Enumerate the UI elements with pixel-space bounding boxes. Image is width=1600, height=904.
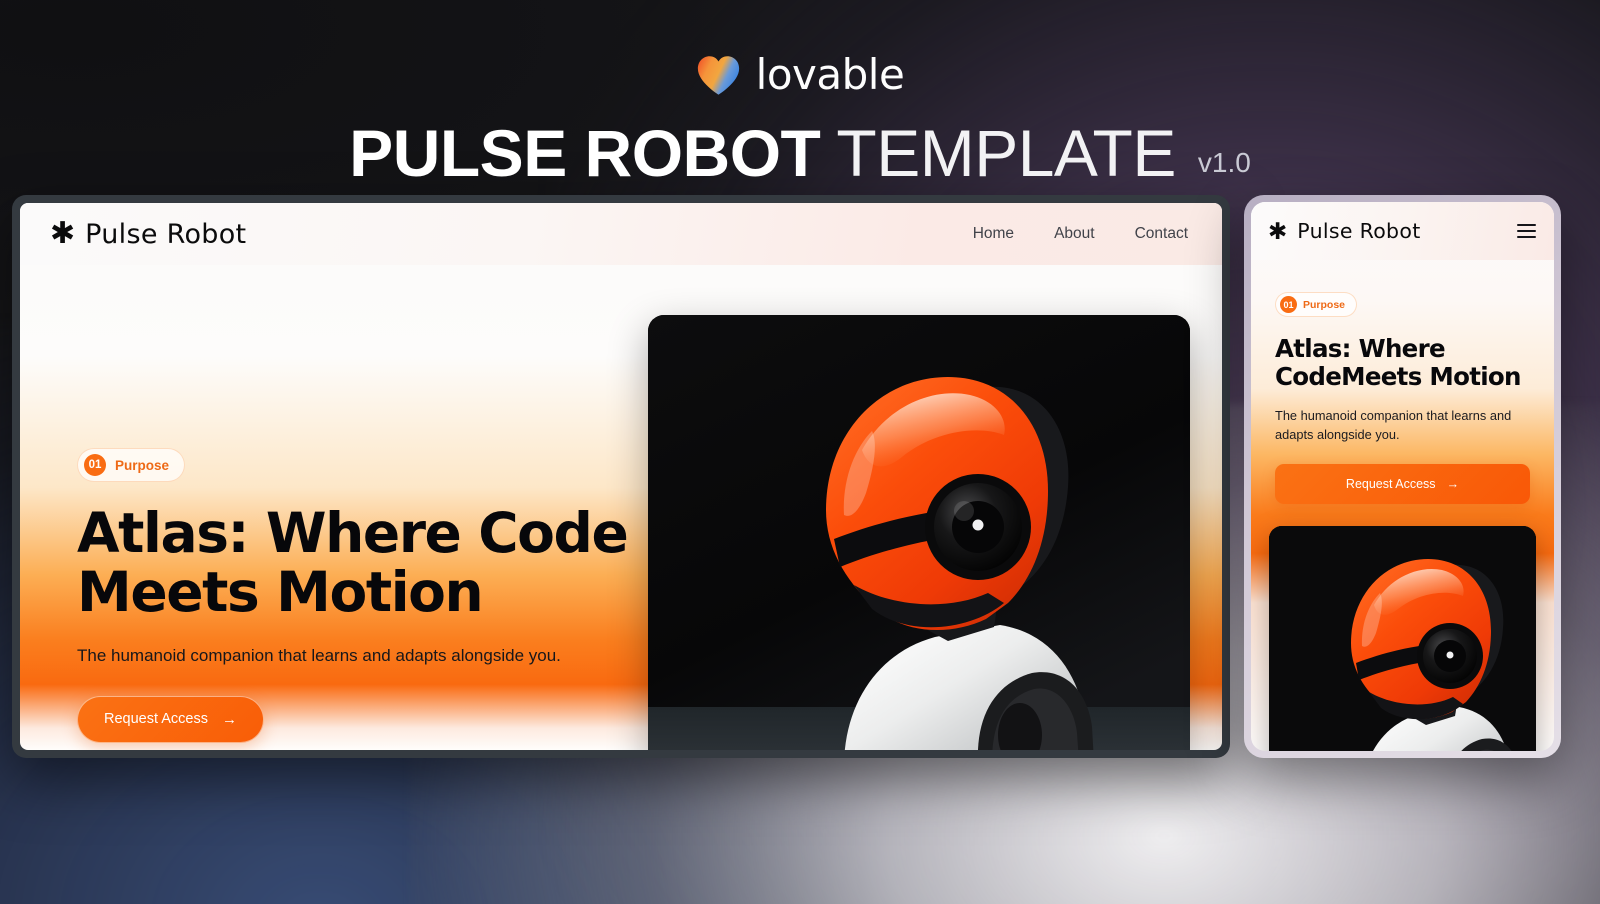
hamburger-bar (1517, 230, 1536, 232)
brand-lockup: lovable (0, 0, 1600, 99)
nav-link-home[interactable]: Home (973, 225, 1014, 243)
mobile-robot-image (1269, 526, 1536, 751)
desktop-logo-text: Pulse Robot (85, 219, 246, 250)
arrow-right-icon: → (222, 711, 237, 728)
badge-label: Purpose (1303, 299, 1345, 311)
version-label: v1.0 (1198, 147, 1251, 179)
cta-label: Request Access (104, 711, 208, 727)
title-light: TEMPLATE (836, 115, 1176, 191)
mobile-screen: ✱ Pulse Robot 01 Purpose Atlas: Where Co… (1251, 202, 1554, 751)
hamburger-icon[interactable] (1517, 224, 1536, 238)
title-bold: PULSE ROBOT (349, 115, 820, 191)
mobile-subheadline: The humanoid companion that learns and a… (1275, 406, 1530, 444)
arrow-right-icon: → (1447, 477, 1460, 491)
hamburger-bar (1517, 236, 1536, 238)
hamburger-bar (1517, 224, 1536, 226)
desktop-preview-frame: ✱ Pulse Robot Home About Contact 01 Purp… (12, 195, 1230, 758)
mobile-logo-text: Pulse Robot (1297, 219, 1420, 243)
desktop-headline: Atlas: Where Code Meets Motion (77, 504, 637, 622)
heart-icon (696, 54, 741, 96)
asterisk-icon: ✱ (50, 219, 75, 249)
desktop-robot-image (648, 315, 1190, 750)
brand-name: lovable (756, 50, 905, 99)
desktop-hero: 01 Purpose Atlas: Where Code Meets Motio… (77, 448, 637, 743)
desktop-nav-links: Home About Contact (973, 225, 1188, 243)
mobile-preview-frame: ✱ Pulse Robot 01 Purpose Atlas: Where Co… (1244, 195, 1561, 758)
badge-number: 01 (84, 454, 106, 476)
page-header: lovable PULSE ROBOT TEMPLATE v1.0 (0, 0, 1600, 191)
request-access-button[interactable]: Request Access → (1275, 464, 1530, 504)
desktop-logo[interactable]: ✱ Pulse Robot (50, 219, 246, 250)
cta-label: Request Access (1346, 477, 1436, 491)
desktop-subheadline: The humanoid companion that learns and a… (77, 646, 637, 666)
asterisk-icon: ✱ (1268, 220, 1287, 243)
mobile-headline: Atlas: Where CodeMeets Motion (1275, 335, 1530, 391)
desktop-navbar: ✱ Pulse Robot Home About Contact (20, 203, 1222, 265)
badge-number: 01 (1280, 296, 1297, 313)
status-badge: 01 Purpose (1275, 292, 1357, 317)
badge-label: Purpose (115, 458, 169, 473)
request-access-button[interactable]: Request Access → (77, 696, 264, 743)
nav-link-about[interactable]: About (1054, 225, 1095, 243)
status-badge: 01 Purpose (77, 448, 185, 482)
mobile-hero: 01 Purpose Atlas: Where CodeMeets Motion… (1251, 260, 1554, 504)
page-title: PULSE ROBOT TEMPLATE v1.0 (0, 115, 1600, 191)
mobile-logo[interactable]: ✱ Pulse Robot (1268, 219, 1421, 243)
mobile-navbar: ✱ Pulse Robot (1251, 202, 1554, 260)
nav-link-contact[interactable]: Contact (1135, 225, 1188, 243)
desktop-screen: ✱ Pulse Robot Home About Contact 01 Purp… (20, 203, 1222, 750)
